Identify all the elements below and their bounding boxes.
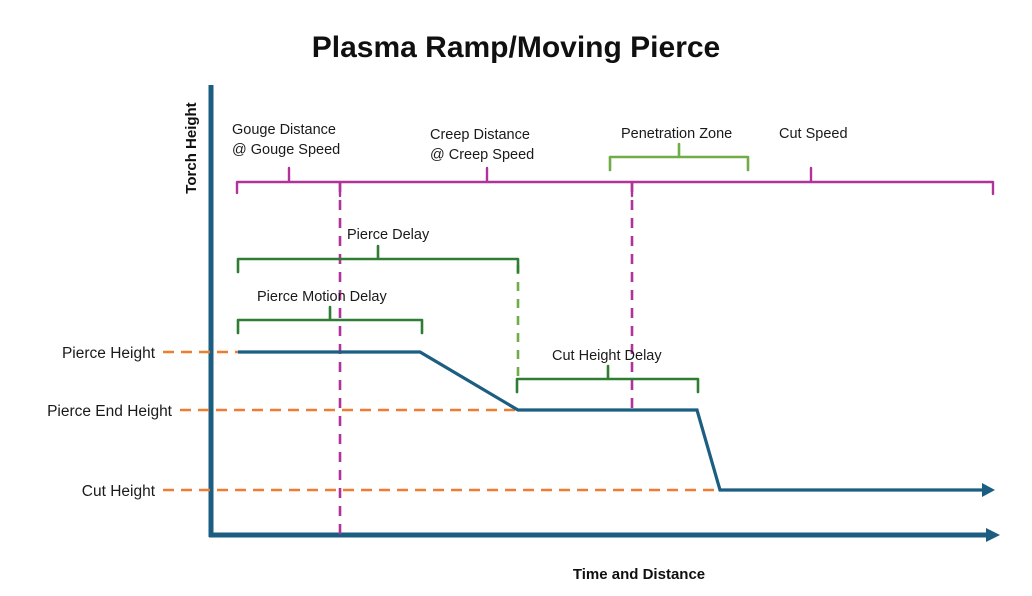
pierce-height-label: Pierce Height (62, 345, 156, 362)
creep-distance-label-line1: Creep Distance (430, 127, 530, 143)
torch-height-curve-group (238, 352, 995, 497)
y-axis-level-labels: Pierce Height Pierce End Height Cut Heig… (47, 345, 173, 500)
pierce-motion-delay-bracket-group: Pierce Motion Delay (238, 289, 422, 333)
torch-height-curve (238, 352, 988, 490)
cut-height-label: Cut Height (82, 483, 156, 500)
reference-lines (163, 352, 720, 490)
penetration-zone-label: Penetration Zone (621, 126, 732, 142)
gouge-distance-label-line1: Gouge Distance (232, 122, 336, 138)
phase-label-group: Gouge Distance @ Gouge Speed Creep Dista… (232, 122, 848, 163)
pierce-delay-bracket-group: Pierce Delay (238, 227, 518, 272)
page-title: Plasma Ramp/Moving Pierce (312, 31, 721, 64)
gouge-distance-label-line2: @ Gouge Speed (232, 142, 340, 158)
cut-speed-label: Cut Speed (779, 126, 848, 142)
pierce-delay-label: Pierce Delay (347, 227, 430, 243)
penetration-zone-bracket (610, 144, 748, 170)
phase-bracket-group (237, 168, 993, 196)
phase-bracket (237, 168, 993, 196)
cut-height-delay-bracket (517, 366, 698, 392)
creep-distance-label-line2: @ Creep Speed (430, 147, 534, 163)
curve-arrow-icon (982, 483, 995, 497)
x-axis-arrow-icon (986, 528, 1000, 542)
penetration-zone-bracket-group (610, 144, 748, 170)
pierce-motion-delay-bracket (238, 307, 422, 333)
cut-height-delay-label: Cut Height Delay (552, 348, 662, 364)
pierce-end-height-label: Pierce End Height (47, 403, 173, 420)
pierce-delay-bracket (238, 246, 518, 272)
pierce-motion-delay-label: Pierce Motion Delay (257, 289, 387, 305)
cut-height-delay-bracket-group: Cut Height Delay (517, 348, 698, 392)
plasma-ramp-diagram: Plasma Ramp/Moving Pierce Torch Height T… (0, 0, 1032, 596)
y-axis-title: Torch Height (183, 102, 200, 193)
x-axis-title: Time and Distance (573, 566, 705, 583)
